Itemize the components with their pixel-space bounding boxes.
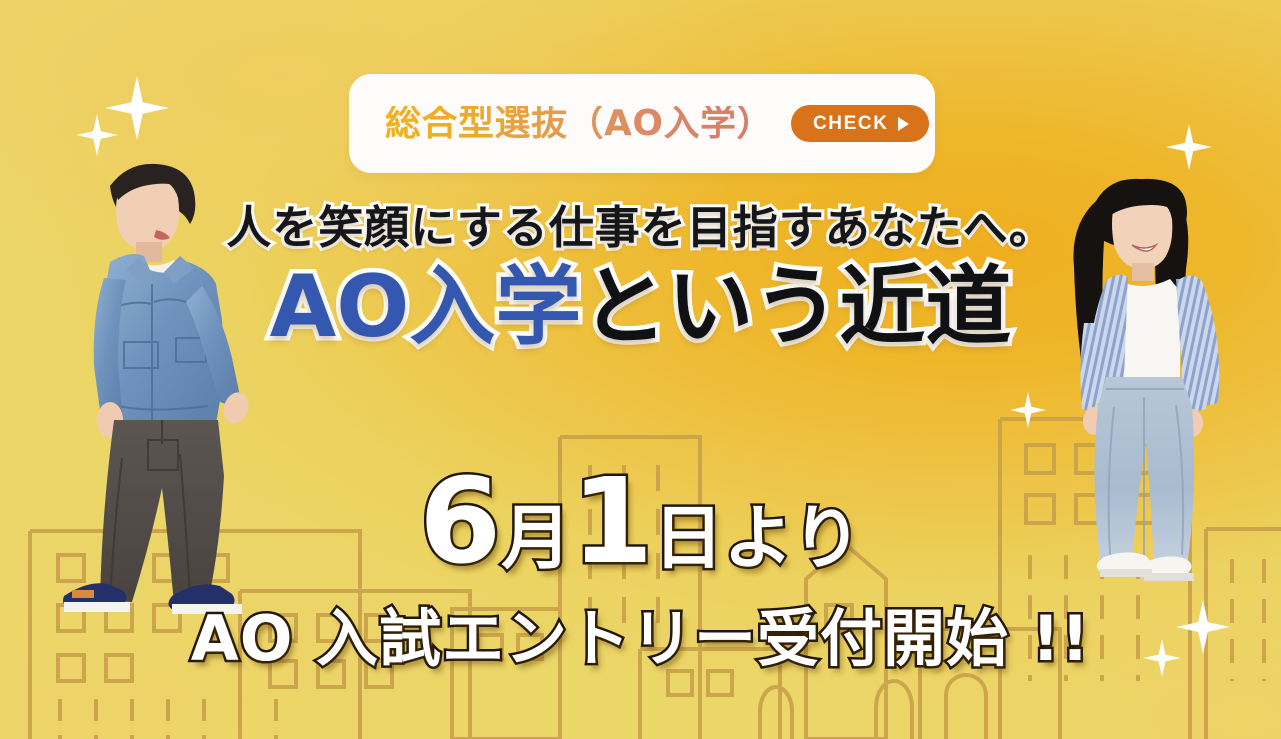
play-triangle-icon bbox=[898, 117, 909, 131]
check-button-label: CHECK bbox=[813, 114, 889, 133]
badge-label: 総合型選抜（AO入学） bbox=[385, 106, 773, 142]
cityscape-line-art bbox=[0, 409, 1281, 739]
admission-type-badge[interactable]: 総合型選抜（AO入学） CHECK bbox=[349, 74, 935, 173]
ao-admission-banner: 総合型選抜（AO入学） CHECK 人を笑顔にする仕事を目指すあなたへ。 AO入… bbox=[0, 0, 1281, 739]
check-button[interactable]: CHECK bbox=[791, 105, 929, 142]
